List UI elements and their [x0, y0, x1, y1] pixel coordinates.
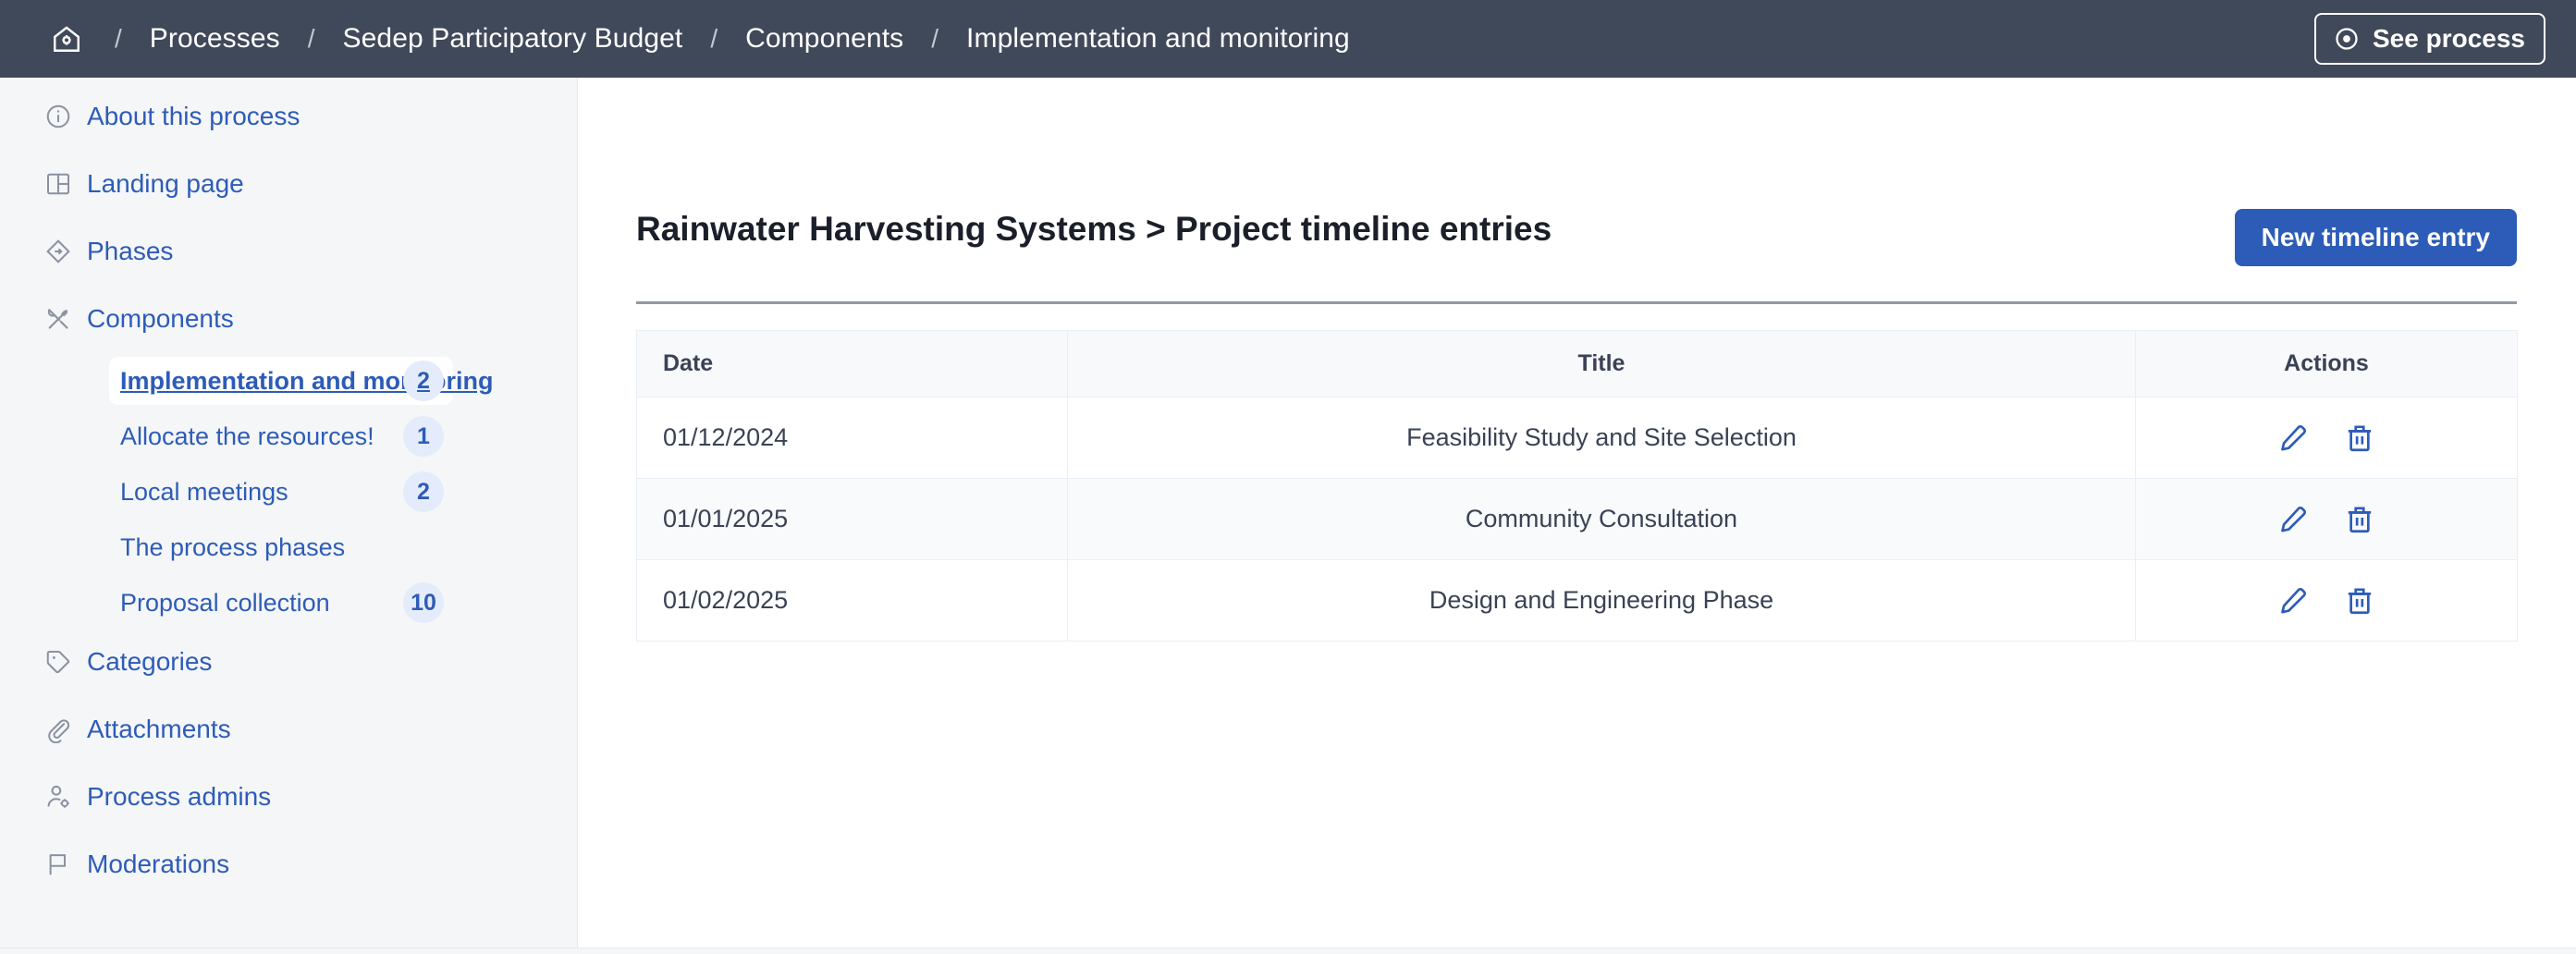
sidebar-subitem-count-badge: 2: [403, 471, 444, 512]
sidebar-item-label: Attachments: [87, 715, 231, 744]
cell-actions: [2136, 479, 2518, 560]
table-row: 01/12/2024 Feasibility Study and Site Se…: [637, 397, 2518, 479]
sidebar-item-label: Moderations: [87, 850, 229, 879]
cell-title: Community Consultation: [1068, 479, 2136, 560]
sidebar-subitem-implementation-and-monitoring[interactable]: Implementation and monitoring 2: [109, 357, 453, 405]
delete-entry-button[interactable]: [2342, 583, 2377, 618]
row-action-group: [2162, 421, 2491, 456]
edit-entry-button[interactable]: [2275, 421, 2311, 456]
sidebar-item-moderations[interactable]: Moderations: [0, 842, 577, 887]
user-gear-icon: [44, 783, 72, 811]
pencil-icon: [2277, 585, 2309, 617]
sidebar-subitem-local-meetings[interactable]: Local meetings 2: [109, 468, 453, 516]
breadcrumb: / Processes / Sedep Participatory Budget…: [46, 0, 1350, 78]
sidebar-subitem-the-process-phases[interactable]: The process phases: [109, 523, 453, 571]
sidebar-item-label: Phases: [87, 237, 173, 266]
row-action-group: [2162, 583, 2491, 618]
table-header-row: Date Title Actions: [637, 331, 2518, 397]
sidebar-item-categories[interactable]: Categories: [0, 640, 577, 684]
cell-actions: [2136, 560, 2518, 642]
sidebar-item-about-this-process[interactable]: About this process: [0, 94, 577, 139]
table-body: 01/12/2024 Feasibility Study and Site Se…: [637, 397, 2518, 642]
cell-actions: [2136, 397, 2518, 479]
see-process-label: See process: [2373, 24, 2525, 54]
eye-icon: [2333, 25, 2361, 53]
sidebar-item-components[interactable]: Components: [0, 297, 577, 341]
column-header-date: Date: [637, 331, 1068, 397]
sidebar-subitem-count-badge: 2: [403, 361, 444, 401]
breadcrumb-separator-1: /: [115, 24, 122, 54]
timeline-entries-table-wrapper: Date Title Actions 01/12/2024 Feasibilit…: [636, 330, 2517, 642]
table-row: 01/02/2025 Design and Engineering Phase: [637, 560, 2518, 642]
timeline-entries-table: Date Title Actions 01/12/2024 Feasibilit…: [636, 330, 2518, 642]
trash-icon: [2344, 504, 2375, 535]
flag-icon: [44, 850, 72, 878]
sidebar-subitem-label: Local meetings: [120, 478, 288, 507]
see-process-button[interactable]: See process: [2314, 13, 2545, 65]
sidebar: About this process Landing page Phases: [0, 78, 578, 948]
trash-icon: [2344, 585, 2375, 617]
info-circle-icon: [44, 103, 72, 130]
cell-date: 01/12/2024: [637, 397, 1068, 479]
sidebar-item-label: Categories: [87, 647, 212, 677]
breadcrumb-separator-3: /: [710, 24, 718, 54]
column-header-actions: Actions: [2136, 331, 2518, 397]
sidebar-item-phases[interactable]: Phases: [0, 229, 577, 274]
column-header-title: Title: [1068, 331, 2136, 397]
page-title: Rainwater Harvesting Systems > Project t…: [636, 210, 1552, 249]
section-divider: [636, 301, 2517, 304]
table-row: 01/01/2025 Community Consultation: [637, 479, 2518, 560]
breadcrumb-separator-2: /: [308, 24, 315, 54]
breadcrumb-item-current[interactable]: Implementation and monitoring: [966, 23, 1350, 55]
paperclip-icon: [44, 715, 72, 743]
sidebar-item-process-admins[interactable]: Process admins: [0, 775, 577, 819]
sidebar-item-landing-page[interactable]: Landing page: [0, 162, 577, 206]
page-bottom-edge: [0, 948, 2576, 954]
sidebar-item-attachments[interactable]: Attachments: [0, 707, 577, 752]
pencil-icon: [2277, 422, 2309, 454]
sidebar-subitem-proposal-collection[interactable]: Proposal collection 10: [109, 579, 453, 627]
sidebar-subitem-label: Proposal collection: [120, 589, 330, 618]
home-gear-icon[interactable]: [46, 18, 87, 59]
sidebar-item-label: About this process: [87, 102, 300, 131]
sidebar-item-label: Process admins: [87, 782, 271, 812]
table-head: Date Title Actions: [637, 331, 2518, 397]
sidebar-item-label: Components: [87, 304, 234, 334]
cell-date: 01/02/2025: [637, 560, 1068, 642]
breadcrumb-item-components[interactable]: Components: [745, 23, 903, 55]
breadcrumb-item-process-name[interactable]: Sedep Participatory Budget: [343, 23, 683, 55]
top-bar: / Processes / Sedep Participatory Budget…: [0, 0, 2576, 78]
trash-icon: [2344, 422, 2375, 454]
edit-entry-button[interactable]: [2275, 583, 2311, 618]
breadcrumb-item-processes[interactable]: Processes: [150, 23, 280, 55]
tag-icon: [44, 648, 72, 676]
main-content: Rainwater Harvesting Systems > Project t…: [578, 78, 2576, 948]
breadcrumb-separator-4: /: [931, 24, 938, 54]
pencil-icon: [2277, 504, 2309, 535]
cell-date: 01/01/2025: [637, 479, 1068, 560]
cell-title: Feasibility Study and Site Selection: [1068, 397, 2136, 479]
sidebar-subitem-label: The process phases: [120, 533, 345, 562]
sidebar-subitem-allocate-the-resources[interactable]: Allocate the resources! 1: [109, 412, 453, 460]
tools-icon: [44, 305, 72, 333]
diamond-arrow-icon: [44, 238, 72, 265]
sidebar-item-label: Landing page: [87, 169, 244, 199]
sidebar-subitem-count-badge: 10: [403, 582, 444, 623]
grid-layout-icon: [44, 170, 72, 198]
edit-entry-button[interactable]: [2275, 502, 2311, 537]
components-submenu: Implementation and monitoring 2 Allocate…: [0, 357, 577, 627]
sidebar-subitem-count-badge: 1: [403, 416, 444, 457]
row-action-group: [2162, 502, 2491, 537]
sidebar-subitem-label: Allocate the resources!: [120, 422, 374, 451]
cell-title: Design and Engineering Phase: [1068, 560, 2136, 642]
delete-entry-button[interactable]: [2342, 421, 2377, 456]
delete-entry-button[interactable]: [2342, 502, 2377, 537]
new-timeline-entry-button[interactable]: New timeline entry: [2235, 209, 2517, 266]
